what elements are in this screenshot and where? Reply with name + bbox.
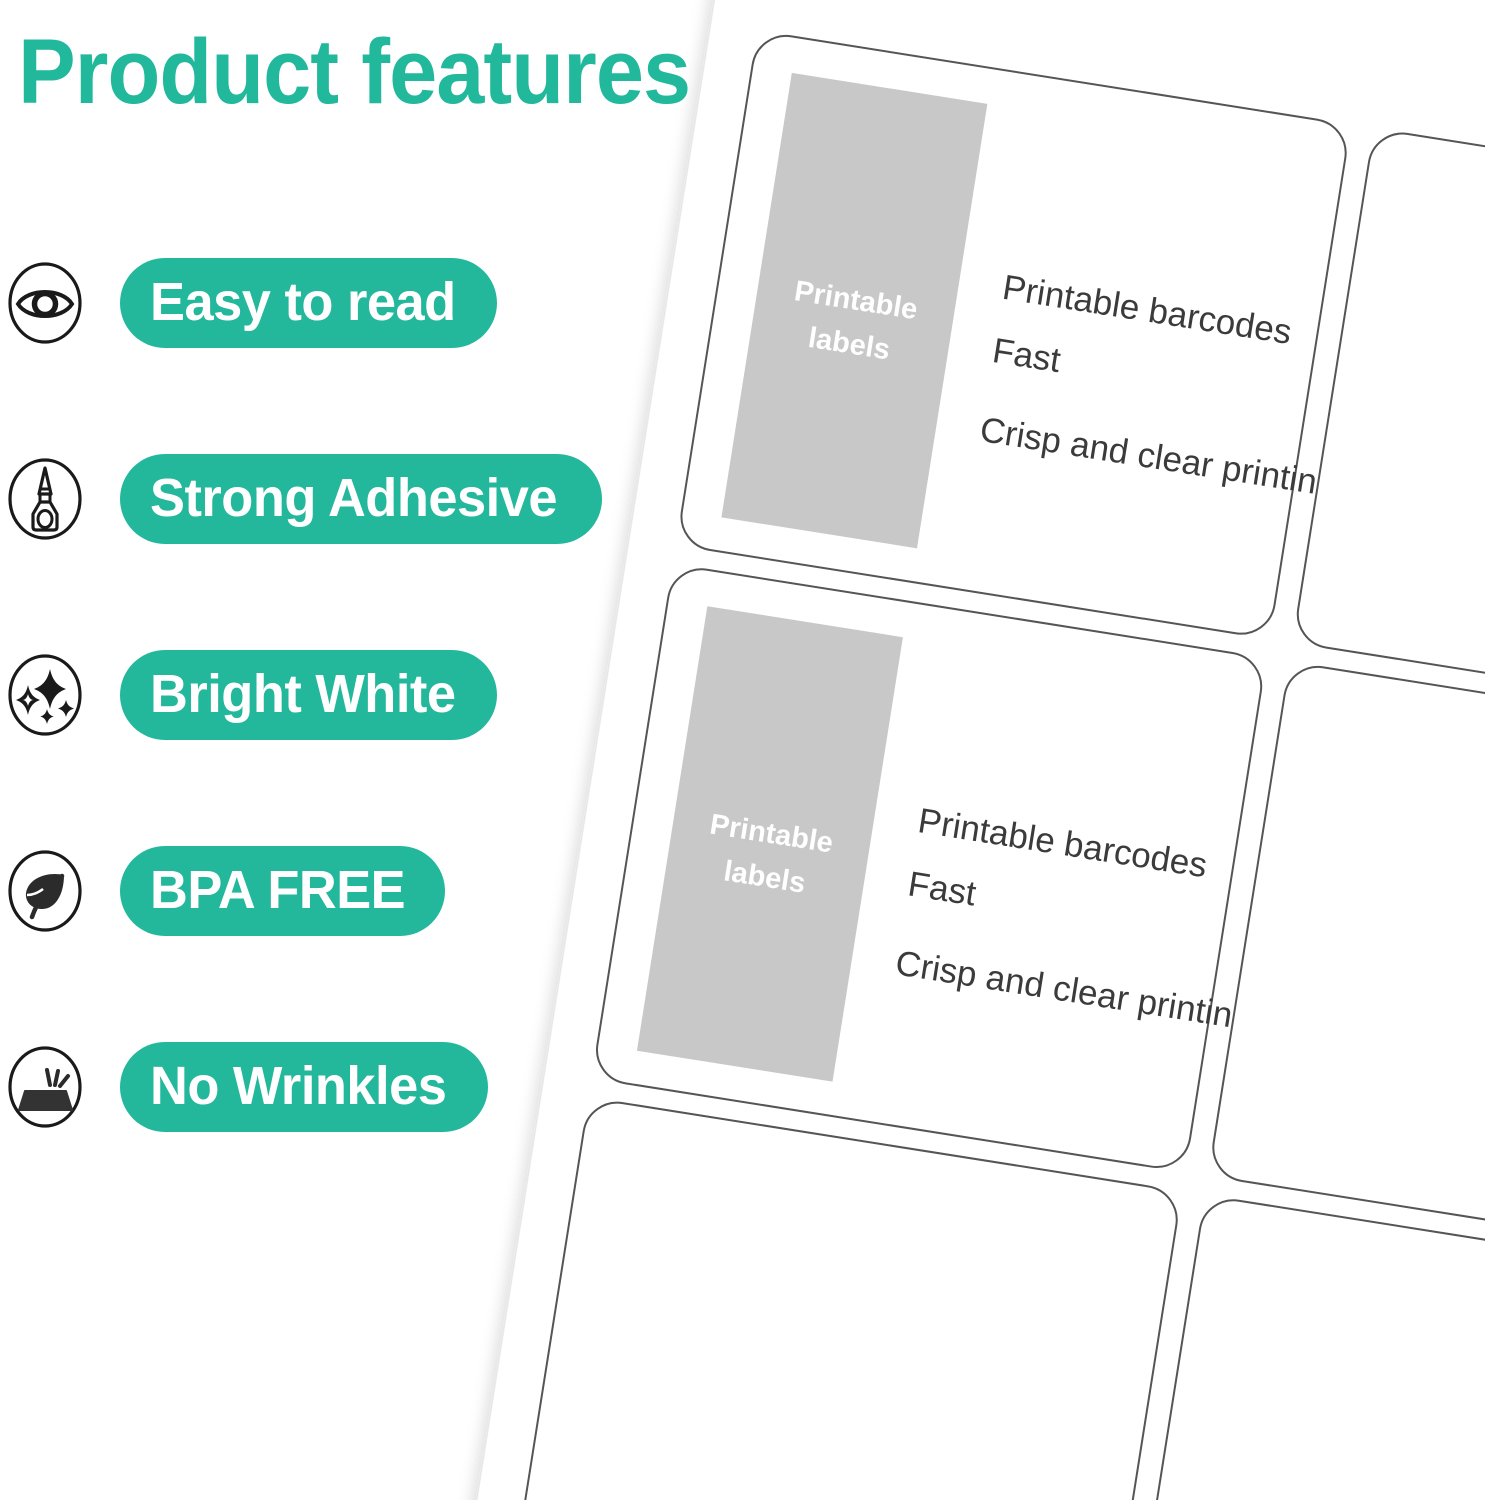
feature-list: Easy to read <box>0 248 640 1228</box>
feature-label: BPA FREE <box>150 863 405 920</box>
product-features-infographic: Printable labels Printable barcodes Fast… <box>0 0 1485 1500</box>
feature-pill-bpa-free[interactable]: BPA FREE <box>120 846 445 936</box>
feature-label: Bright White <box>150 667 456 724</box>
feature-label: Easy to read <box>150 275 456 332</box>
eye-icon <box>6 261 84 345</box>
feature-pill-no-wrinkles[interactable]: No Wrinkles <box>120 1042 488 1132</box>
feature-pill-easy-to-read[interactable]: Easy to read <box>120 258 497 348</box>
features-panel: Product features Easy to read <box>0 0 640 1500</box>
feature-label: No Wrinkles <box>150 1059 446 1116</box>
feature-item-strong-adhesive[interactable]: Strong Adhesive <box>0 444 640 554</box>
flat-sheet-icon <box>6 1045 84 1129</box>
feature-pill-bright-white[interactable]: Bright White <box>120 650 497 740</box>
glue-bottle-icon <box>6 457 84 541</box>
leaf-icon <box>6 849 84 933</box>
page-title: Product features <box>18 24 690 121</box>
feature-pill-strong-adhesive[interactable]: Strong Adhesive <box>120 454 602 544</box>
feature-item-easy-to-read[interactable]: Easy to read <box>0 248 640 358</box>
feature-item-no-wrinkles[interactable]: No Wrinkles <box>0 1032 640 1142</box>
feature-item-bright-white[interactable]: Bright White <box>0 640 640 750</box>
feature-label: Strong Adhesive <box>150 471 557 528</box>
sparkles-icon <box>6 653 84 737</box>
feature-item-bpa-free[interactable]: BPA FREE <box>0 836 640 946</box>
